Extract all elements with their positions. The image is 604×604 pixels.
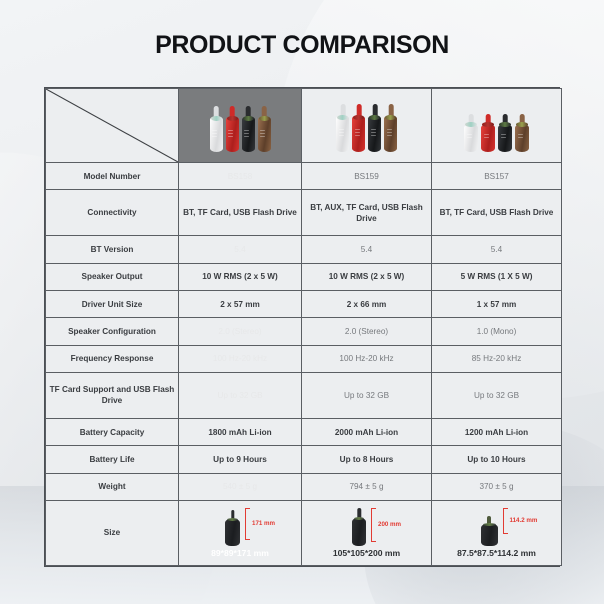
speaker-brown-icon <box>515 114 529 152</box>
cell-bs159: 2.0 (Stereo) <box>302 318 432 345</box>
cell-bs158: Up to 9 Hours <box>179 446 302 473</box>
cell-bs159: Up to 32 GB <box>302 372 432 418</box>
cell-bs157: BT, TF Card, USB Flash Drive <box>432 190 562 236</box>
size-text: 89*89*171 mm <box>211 548 269 560</box>
table-header-row <box>46 89 562 163</box>
cell-bs159: 5.4 <box>302 236 432 263</box>
table-row: Speaker Configuration 2.0 (Stereo) 2.0 (… <box>46 318 562 345</box>
row-label: Size <box>46 501 179 566</box>
cell-bs159: Up to 8 Hours <box>302 446 432 473</box>
row-label: Battery Capacity <box>46 419 179 446</box>
cell-bs157: Up to 32 GB <box>432 372 562 418</box>
cell-bs159: BS159 <box>302 163 432 190</box>
speaker-white-icon <box>210 106 223 152</box>
row-label: Frequency Response <box>46 345 179 372</box>
row-label: BT Version <box>46 236 179 263</box>
comparison-table: Model Number BS158 BS159 BS157 Connectiv… <box>45 88 562 566</box>
speaker-brown-icon <box>384 104 397 152</box>
dimension-bracket-icon: 171 mm <box>243 506 255 542</box>
size-figure-bs159: 200 mm 105*105*200 mm <box>302 501 431 565</box>
cell-bs159: 2000 mAh Li-ion <box>302 419 432 446</box>
comparison-table-body: Model Number BS158 BS159 BS157 Connectiv… <box>46 89 562 566</box>
size-figure-bs158: 171 mm 89*89*171 mm <box>179 501 301 565</box>
speaker-red-icon <box>226 106 239 152</box>
table-row: Weight 540 ± 5 g 794 ± 5 g 370 ± 5 g <box>46 473 562 500</box>
cell-bs158: BS158 <box>179 163 302 190</box>
cell-bs157: 5.4 <box>432 236 562 263</box>
row-label: Connectivity <box>46 190 179 236</box>
dimension-bracket-icon: 200 mm <box>369 506 381 544</box>
size-text: 87.5*87.5*114.2 mm <box>457 548 536 560</box>
speaker-brown-icon <box>258 106 271 152</box>
table-row: Connectivity BT, TF Card, USB Flash Driv… <box>46 190 562 236</box>
cell-bs157: BS157 <box>432 163 562 190</box>
speaker-lineup-bs159 <box>302 89 431 162</box>
cell-size-bs157: 114.2 mm 87.5*87.5*114.2 mm <box>432 501 562 566</box>
speaker-black-icon <box>498 114 512 152</box>
cell-size-bs159: 200 mm 105*105*200 mm <box>302 501 432 566</box>
speaker-silhouette-icon <box>225 510 240 546</box>
speaker-white-icon <box>336 104 349 152</box>
cell-bs157: Up to 10 Hours <box>432 446 562 473</box>
cell-bs159: 100 Hz-20 kHz <box>302 345 432 372</box>
size-diagram: 114.2 mm <box>481 506 513 546</box>
cell-bs158: 540 ± 5 g <box>179 473 302 500</box>
header-diagonal-cell <box>46 89 179 163</box>
table-row: Battery Life Up to 9 Hours Up to 8 Hours… <box>46 446 562 473</box>
speaker-black-icon <box>368 104 381 152</box>
size-diagram: 171 mm <box>225 506 255 546</box>
row-label: TF Card Support and USB Flash Drive <box>46 372 179 418</box>
cell-bs158: 100 Hz-20 kHz <box>179 345 302 372</box>
table-row-size: Size 171 mm <box>46 501 562 566</box>
dimension-label: 200 mm <box>378 521 401 529</box>
cell-bs158: 1800 mAh Li-ion <box>179 419 302 446</box>
cell-bs157: 1 x 57 mm <box>432 291 562 318</box>
row-label: Weight <box>46 473 179 500</box>
diagonal-divider-icon <box>46 89 178 162</box>
row-label: Speaker Output <box>46 263 179 290</box>
row-label: Model Number <box>46 163 179 190</box>
header-product-bs157 <box>432 89 562 163</box>
size-diagram: 200 mm <box>352 506 381 546</box>
size-text: 105*105*200 mm <box>333 548 400 560</box>
speaker-white-icon <box>464 114 478 152</box>
cell-bs159: 2 x 66 mm <box>302 291 432 318</box>
speaker-silhouette-icon <box>481 516 498 546</box>
cell-size-bs158: 171 mm 89*89*171 mm <box>179 501 302 566</box>
table-row: TF Card Support and USB Flash Drive Up t… <box>46 372 562 418</box>
page-title: PRODUCT COMPARISON <box>0 31 604 60</box>
table-row: Driver Unit Size 2 x 57 mm 2 x 66 mm 1 x… <box>46 291 562 318</box>
speaker-silhouette-icon <box>352 508 366 546</box>
row-label: Speaker Configuration <box>46 318 179 345</box>
cell-bs157: 1200 mAh Li-ion <box>432 419 562 446</box>
header-product-bs158 <box>179 89 302 163</box>
dimension-label: 171 mm <box>252 520 275 528</box>
speaker-black-icon <box>242 106 255 152</box>
comparison-table-container: Model Number BS158 BS159 BS157 Connectiv… <box>44 87 560 567</box>
cell-bs158: 2 x 57 mm <box>179 291 302 318</box>
table-row: BT Version 5.4 5.4 5.4 <box>46 236 562 263</box>
cell-bs158: 2.0 (Stereo) <box>179 318 302 345</box>
row-label: Driver Unit Size <box>46 291 179 318</box>
size-figure-bs157: 114.2 mm 87.5*87.5*114.2 mm <box>432 501 561 565</box>
cell-bs157: 5 W RMS (1 X 5 W) <box>432 263 562 290</box>
table-row: Speaker Output 10 W RMS (2 x 5 W) 10 W R… <box>46 263 562 290</box>
cell-bs157: 1.0 (Mono) <box>432 318 562 345</box>
table-row: Frequency Response 100 Hz-20 kHz 100 Hz-… <box>46 345 562 372</box>
dimension-label: 114.2 mm <box>510 517 538 525</box>
cell-bs158: Up to 32 GB <box>179 372 302 418</box>
speaker-red-icon <box>352 104 365 152</box>
dimension-bracket-icon: 114.2 mm <box>501 506 513 536</box>
table-row: Battery Capacity 1800 mAh Li-ion 2000 mA… <box>46 419 562 446</box>
cell-bs157: 85 Hz-20 kHz <box>432 345 562 372</box>
cell-bs158: BT, TF Card, USB Flash Drive <box>179 190 302 236</box>
cell-bs157: 370 ± 5 g <box>432 473 562 500</box>
speaker-red-icon <box>481 114 495 152</box>
speaker-lineup-bs158 <box>179 89 301 162</box>
cell-bs158: 5.4 <box>179 236 302 263</box>
cell-bs159: 10 W RMS (2 x 5 W) <box>302 263 432 290</box>
row-label: Battery Life <box>46 446 179 473</box>
comparison-page: PRODUCT COMPARISON <box>0 0 604 604</box>
speaker-lineup-bs157 <box>432 89 561 162</box>
cell-bs159: BT, AUX, TF Card, USB Flash Drive <box>302 190 432 236</box>
cell-bs158: 10 W RMS (2 x 5 W) <box>179 263 302 290</box>
table-row: Model Number BS158 BS159 BS157 <box>46 163 562 190</box>
cell-bs159: 794 ± 5 g <box>302 473 432 500</box>
header-product-bs159 <box>302 89 432 163</box>
